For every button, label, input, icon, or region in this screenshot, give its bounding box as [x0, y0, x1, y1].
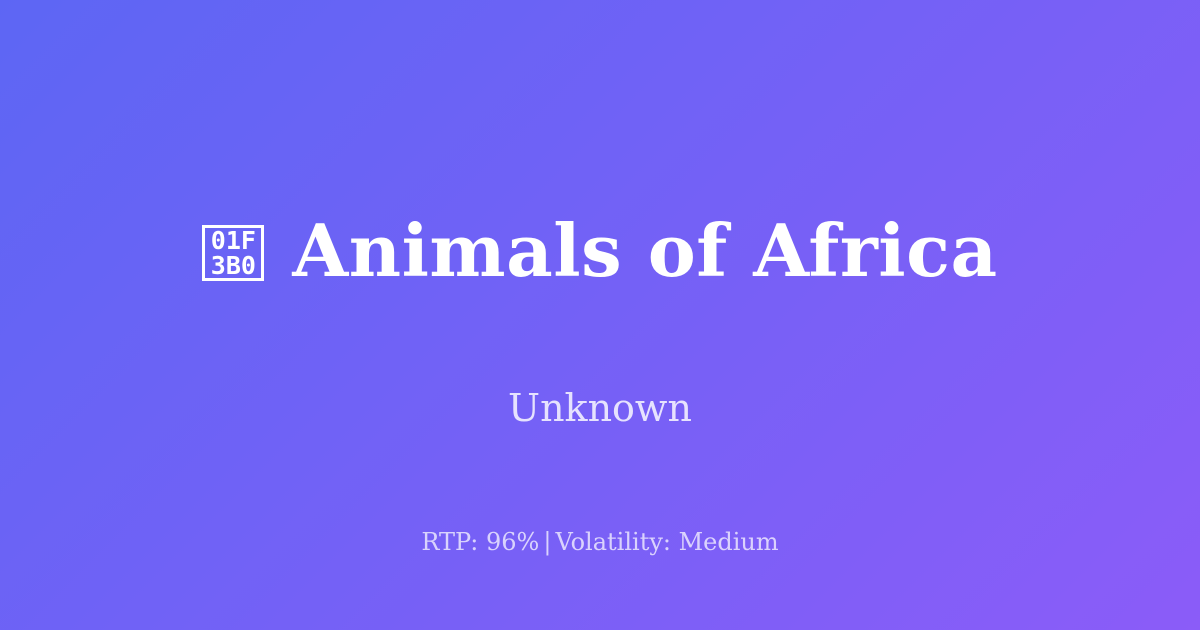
- stats-separator: |: [539, 528, 555, 556]
- game-stats-footer: RTP: 96%|Volatility: Medium: [0, 527, 1200, 557]
- game-title: Animals of Africa: [292, 215, 997, 287]
- title-row: 01F 3B0 Animals of Africa: [202, 167, 997, 335]
- game-hero-card: 01F 3B0 Animals of Africa Unknown RTP: 9…: [0, 0, 1200, 630]
- slot-machine-icon: 01F 3B0: [202, 225, 264, 281]
- volatility-stat: Volatility: Medium: [555, 528, 778, 556]
- game-provider-subtitle: Unknown: [508, 389, 692, 427]
- rtp-stat: RTP: 96%: [421, 528, 539, 556]
- slot-machine-icon-codepoint-top: 01F: [211, 228, 256, 253]
- slot-machine-icon-codepoint-bottom: 3B0: [211, 253, 256, 278]
